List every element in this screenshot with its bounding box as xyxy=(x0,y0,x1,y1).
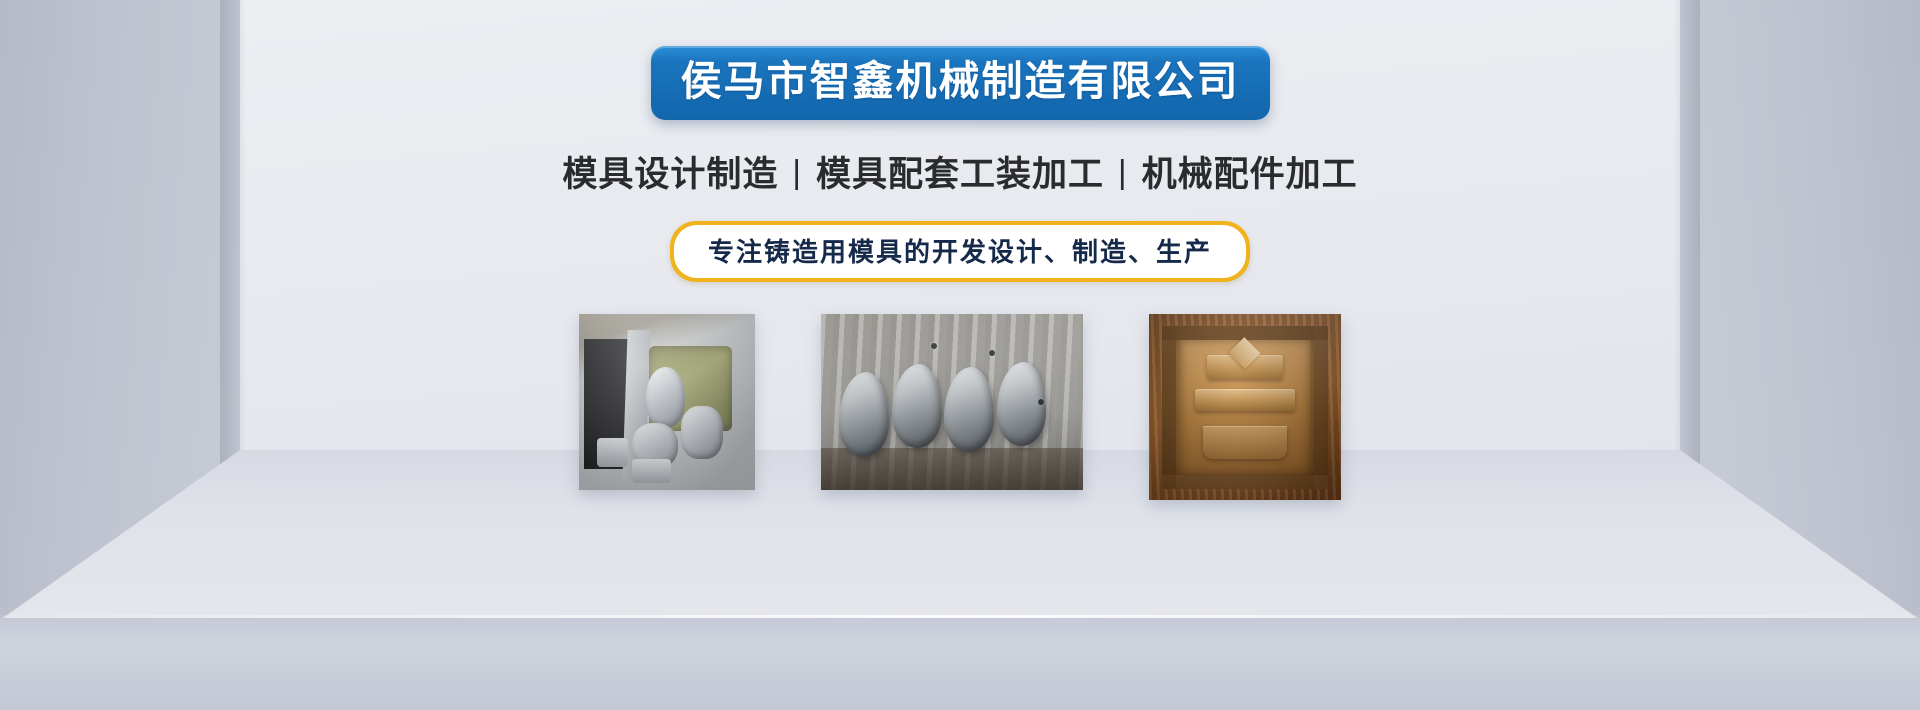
product-photo-gallery xyxy=(579,314,1341,500)
slogan-badge-inner: 专注铸造用模具的开发设计、制造、生产 xyxy=(674,225,1246,278)
company-title-pill: 侯马市智鑫机械制造有限公司 xyxy=(651,46,1270,120)
slogan-badge: 专注铸造用模具的开发设计、制造、生产 xyxy=(670,221,1250,282)
service-item-2: 模具配套工装加工 xyxy=(816,146,1104,197)
service-list: 模具设计制造 | 模具配套工装加工 | 机械配件加工 xyxy=(562,146,1357,197)
company-hero-banner: 侯马市智鑫机械制造有限公司 模具设计制造 | 模具配套工装加工 | 机械配件加工… xyxy=(0,0,1920,710)
product-photo-aluminium-die[interactable] xyxy=(579,314,755,490)
service-separator-1: | xyxy=(778,153,816,191)
product-photo-steel-die[interactable] xyxy=(821,314,1083,490)
product-photo-wooden-pattern[interactable] xyxy=(1149,314,1341,500)
photo3-shading xyxy=(1149,314,1341,500)
service-separator-2: | xyxy=(1104,153,1142,191)
company-title: 侯马市智鑫机械制造有限公司 xyxy=(681,57,1240,105)
banner-content: 侯马市智鑫机械制造有限公司 模具设计制造 | 模具配套工装加工 | 机械配件加工… xyxy=(0,0,1920,710)
service-item-3: 机械配件加工 xyxy=(1142,146,1358,197)
slogan-text: 专注铸造用模具的开发设计、制造、生产 xyxy=(708,232,1212,269)
photo1-shading xyxy=(579,314,755,490)
photo2-shading xyxy=(821,314,1083,490)
service-item-1: 模具设计制造 xyxy=(562,146,778,197)
